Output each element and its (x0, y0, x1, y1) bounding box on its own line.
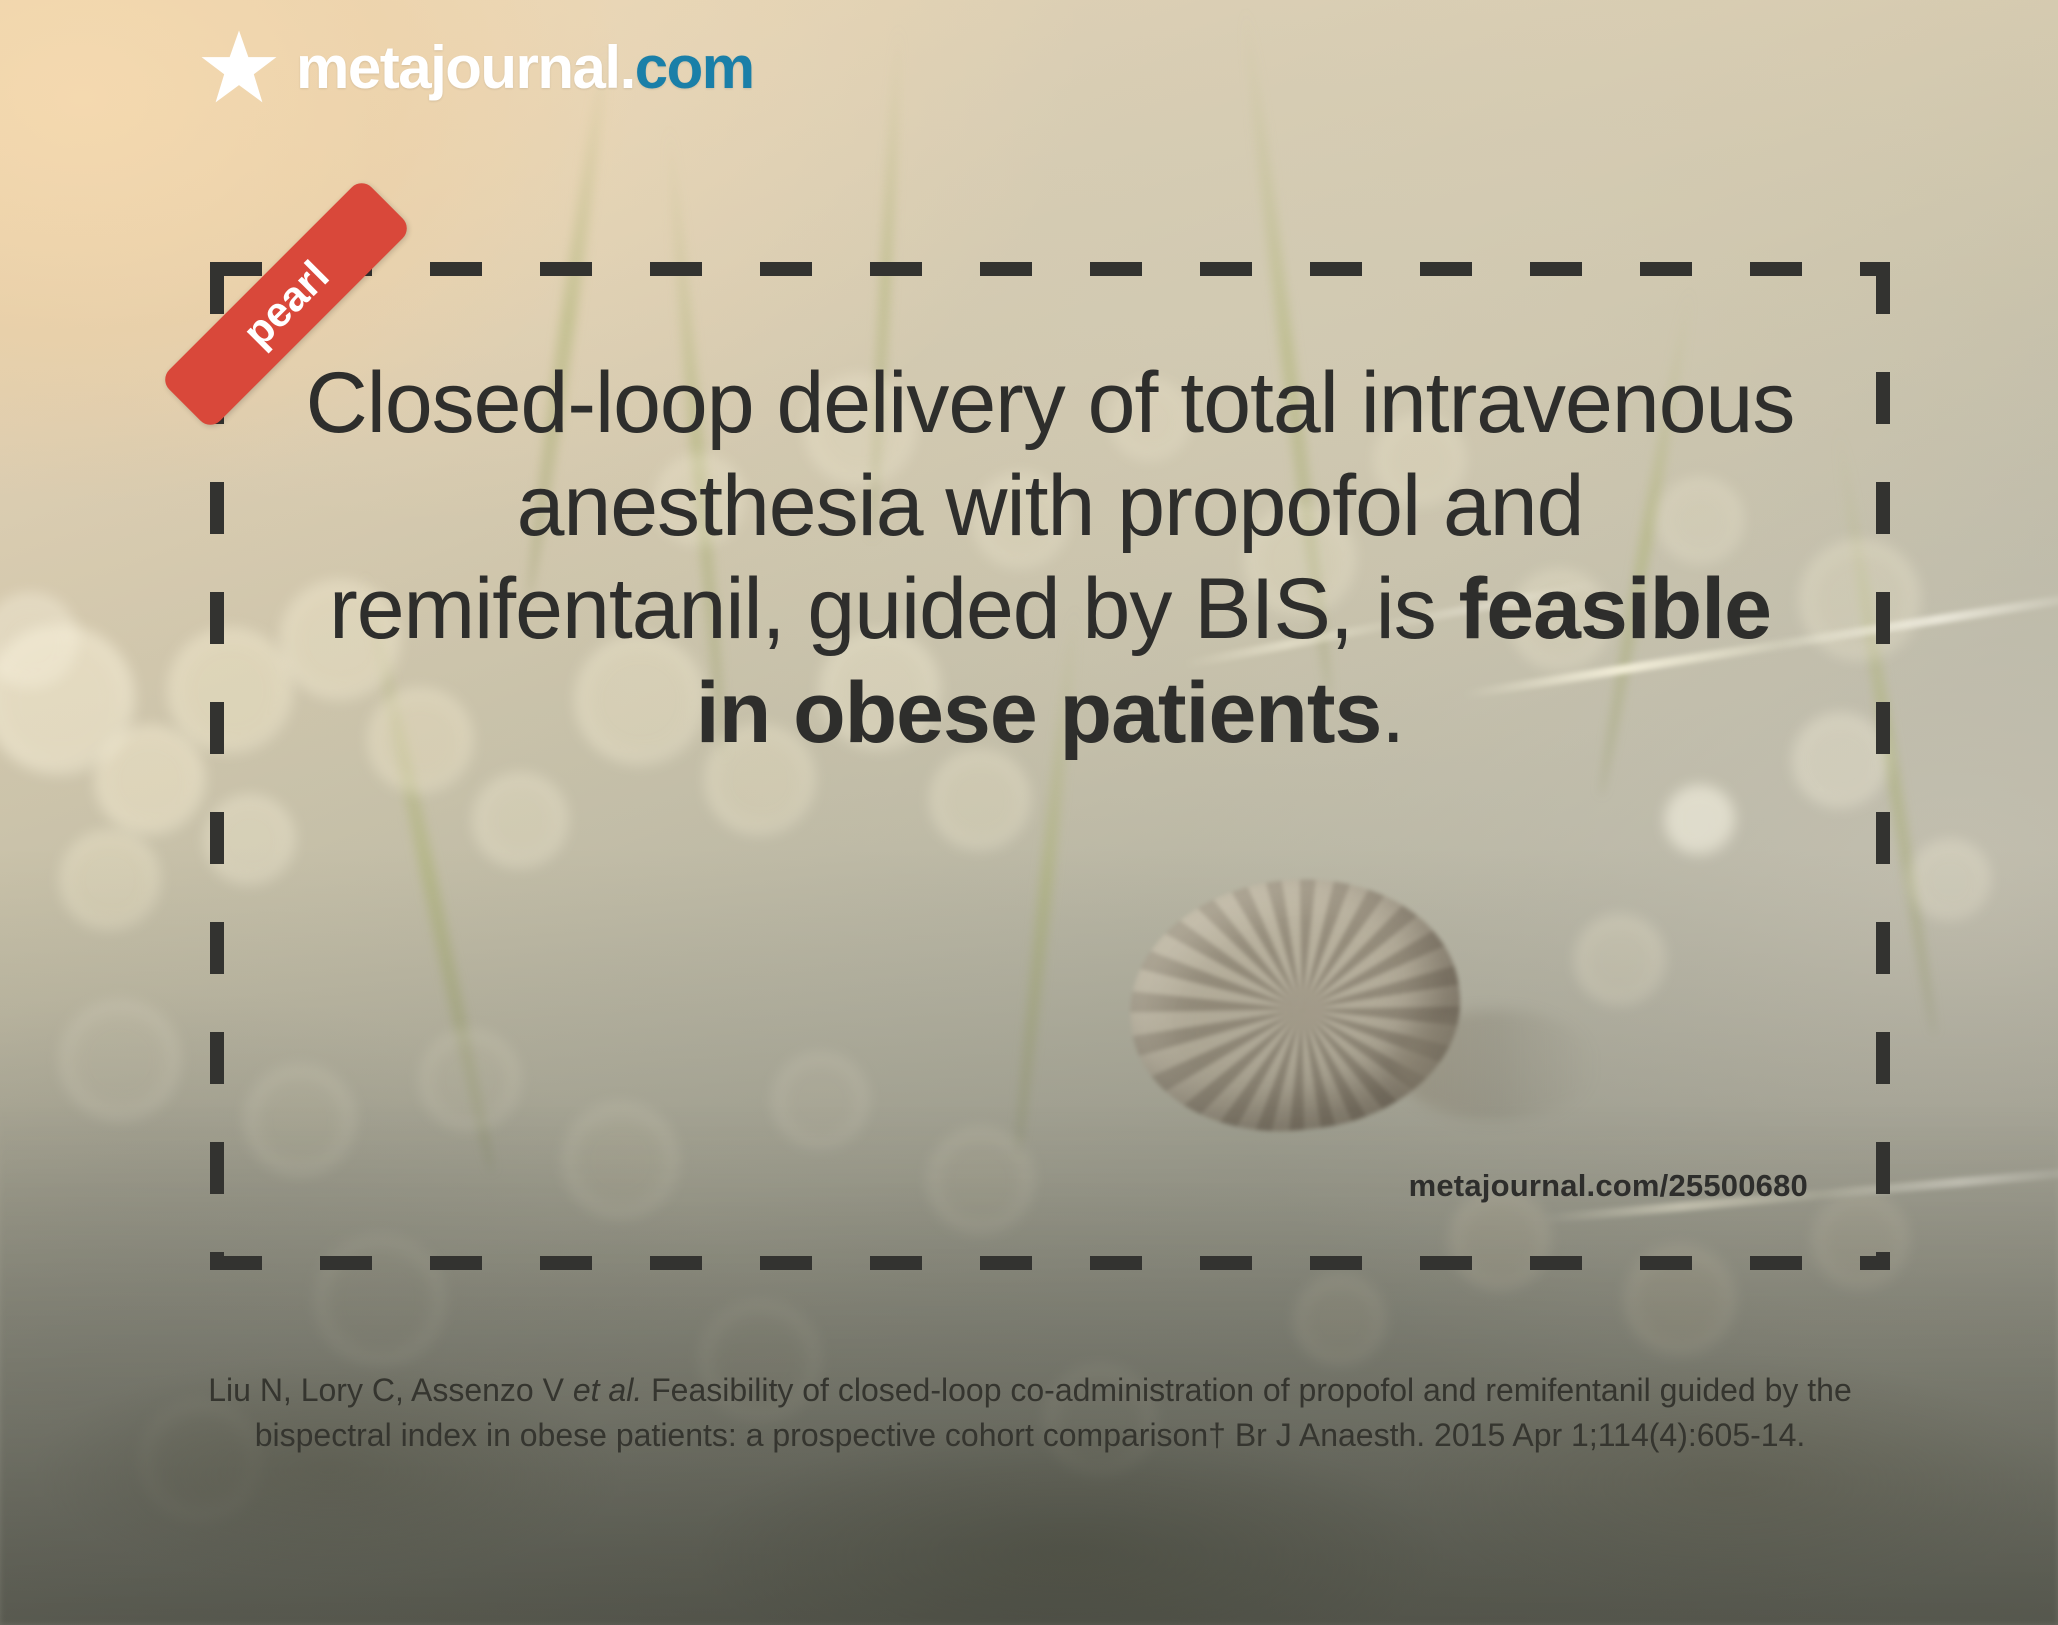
card-border-right (1876, 262, 1890, 1270)
headline-tail: . (1381, 665, 1404, 761)
star-icon (200, 29, 278, 107)
logo-name: metajournal (296, 34, 620, 101)
card-border-top (210, 262, 1890, 276)
logo-dot: . (620, 34, 635, 101)
logo-wordmark: metajournal.com (296, 38, 754, 98)
pearl-url[interactable]: metajournal.com/25500680 (1409, 1168, 1808, 1204)
citation-etal: et al. (573, 1372, 642, 1408)
citation-authors: Liu N, Lory C, Assenzo V (208, 1372, 573, 1408)
logo-tld: com (635, 34, 754, 101)
citation-reference: Liu N, Lory C, Assenzo V et al. Feasibil… (200, 1368, 1860, 1459)
site-logo[interactable]: metajournal.com (200, 22, 754, 114)
pearl-headline: Closed-loop delivery of total intravenou… (300, 352, 1800, 765)
card-border-bottom (210, 1256, 1890, 1270)
